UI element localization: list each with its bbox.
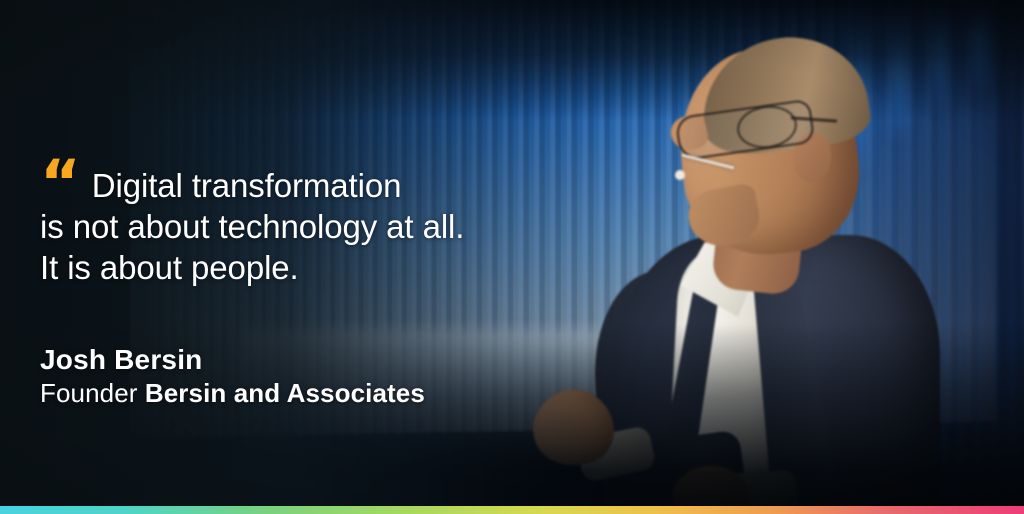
quote-line-1-text: Digital transformation — [92, 167, 402, 204]
accent-gradient-strip — [0, 506, 1024, 514]
quote-content: “Digital transformation is not about tec… — [40, 0, 560, 514]
attribution-role-prefix: Founder — [40, 378, 138, 408]
quote-line-2: is not about technology at all. — [40, 206, 560, 247]
quote-line-3: It is about people. — [40, 247, 560, 288]
quote-line-1: “Digital transformation — [40, 165, 560, 206]
quote-block: “Digital transformation is not about tec… — [40, 165, 560, 288]
attribution-block: Josh Bersin Founder Bersin and Associate… — [40, 343, 560, 410]
quote-card: “Digital transformation is not about tec… — [0, 0, 1024, 514]
attribution-name: Josh Bersin — [40, 343, 560, 377]
attribution-organization: Bersin and Associates — [145, 378, 425, 408]
attribution-role: Founder Bersin and Associates — [40, 377, 560, 410]
